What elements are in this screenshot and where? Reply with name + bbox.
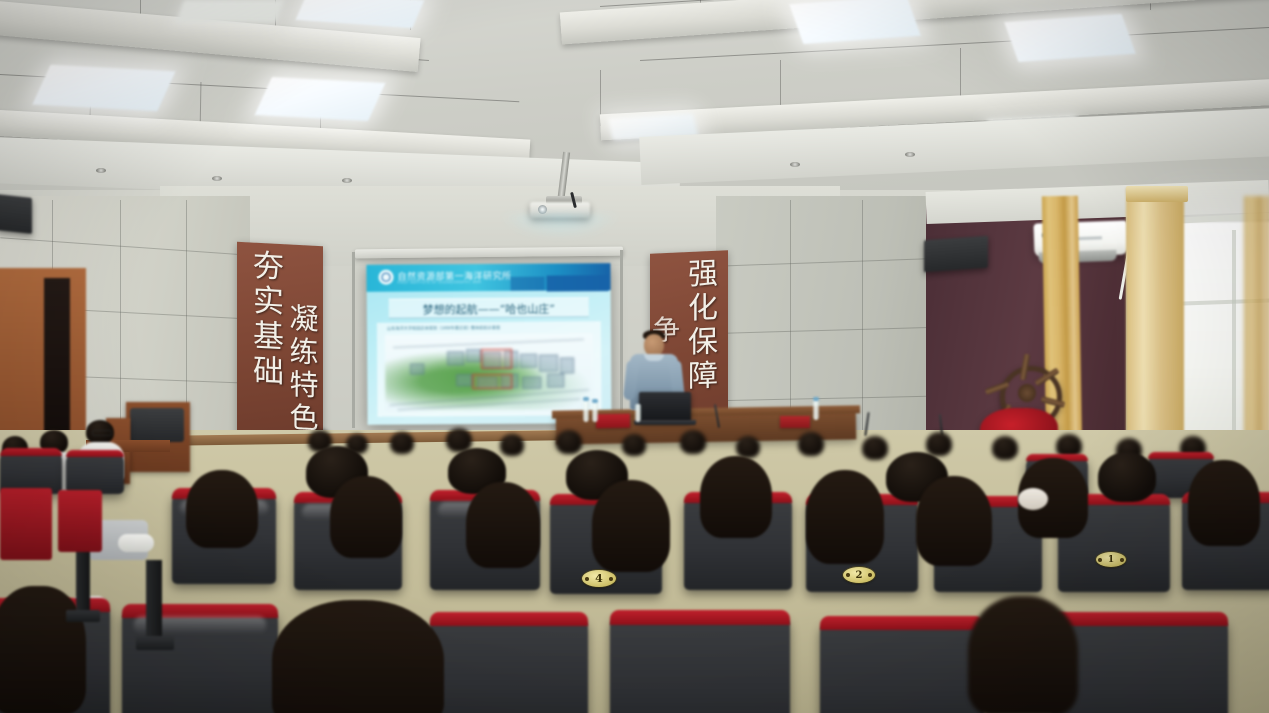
projector-lens — [538, 205, 547, 214]
audience-head — [806, 470, 884, 564]
presenter-laptop[interactable] — [639, 392, 691, 422]
seat-headrest — [1052, 612, 1228, 626]
foreground-head-far-left — [0, 586, 86, 713]
map-highlight-1 — [481, 349, 512, 369]
seat-side-panel — [0, 488, 52, 560]
ceiling-light-2 — [255, 77, 386, 121]
seat-headrest — [430, 612, 588, 626]
screen-rail-right — [620, 250, 623, 426]
ceiling-light-1 — [32, 65, 175, 112]
water-bottle-1 — [583, 400, 589, 422]
slide-header-block — [547, 275, 609, 291]
audience-head — [1098, 452, 1156, 502]
wall-banner-left: 夯实基础 凝练特色 — [237, 242, 323, 443]
bottle-cap-1 — [583, 397, 589, 401]
slide-subtitle: 山东海洋大学校园总体规划（1958年搬迁前）·整体航拍示意图 — [387, 325, 500, 332]
projection-screen[interactable]: 自然资源部第一海洋研究所 FIRST INSTITUTE OF OCEANOGR… — [366, 263, 611, 425]
water-bottle-2 — [592, 402, 598, 422]
downlight-1 — [96, 168, 106, 173]
seat-leg — [76, 548, 90, 618]
bottle-cap-2 — [592, 399, 598, 403]
audience-head — [916, 476, 992, 566]
gold-curtain-far-right — [1244, 196, 1269, 446]
curtain-valance — [1126, 186, 1188, 202]
foreground-head-right — [968, 596, 1078, 713]
slide-campus-map — [385, 333, 594, 410]
ceiling-light-7 — [176, 0, 284, 22]
lecture-hall-photo: 夯实基础 凝练特色 强化保障 争 自然资源部第一海洋研究所 FIRST INST… — [0, 0, 1269, 713]
downlight-4 — [790, 162, 800, 167]
bottle-cap-4 — [813, 397, 819, 401]
presenter-head — [644, 334, 664, 356]
slide-institute-name-en: FIRST INSTITUTE OF OCEANOGRAPHY, MNR — [398, 280, 482, 285]
seat-foot — [136, 636, 174, 650]
gold-curtain-main — [1126, 188, 1184, 458]
slide-header-block-2 — [511, 277, 545, 291]
slide-content: 自然资源部第一海洋研究所 FIRST INSTITUTE OF OCEANOGR… — [366, 263, 611, 425]
downlight-2 — [212, 176, 222, 181]
seat[interactable] — [430, 618, 588, 713]
seat-leg — [146, 560, 162, 644]
seat-headrest — [610, 610, 790, 625]
seat-side-panel — [58, 490, 102, 552]
slide-title: 梦想的起航——“哈也山庄” — [367, 300, 611, 318]
banner-left-char-1: 夯实基础 — [246, 248, 280, 390]
seat-with-plate[interactable] — [610, 616, 790, 713]
banner-left-char-2: 凝练特色 — [284, 302, 316, 436]
screen-rail-left — [352, 252, 355, 428]
seat-row-front: 4 2 — [0, 560, 1269, 713]
ceiling-light-5 — [1004, 14, 1136, 62]
seat-with-plate[interactable] — [1052, 618, 1228, 713]
foreground-head-left — [272, 600, 444, 713]
audience-head — [592, 480, 670, 572]
map-highlight-2 — [473, 373, 513, 389]
hair-scrunchie — [1018, 488, 1048, 510]
wall-speaker-left — [0, 194, 32, 234]
ac-label — [1076, 236, 1102, 240]
audience-head — [186, 470, 258, 548]
audience-head — [466, 482, 540, 568]
wall-speaker-right — [924, 236, 988, 272]
institute-seal-logo — [378, 270, 393, 285]
audience-head — [700, 456, 772, 538]
projector-light-cone — [500, 214, 620, 240]
seat-headrest — [820, 616, 984, 630]
audience-head — [330, 476, 402, 558]
seat-foot — [66, 610, 100, 622]
downlight-3 — [342, 178, 352, 183]
seat[interactable] — [820, 622, 984, 713]
audience-head — [1188, 460, 1260, 546]
banner-right-char-1: 强化保障 — [680, 257, 714, 394]
tile-seam — [120, 200, 121, 440]
water-bottle-4 — [813, 400, 819, 420]
water-bottle-3 — [635, 404, 641, 422]
downlight-5 — [905, 152, 915, 157]
tile-seam — [862, 200, 863, 456]
